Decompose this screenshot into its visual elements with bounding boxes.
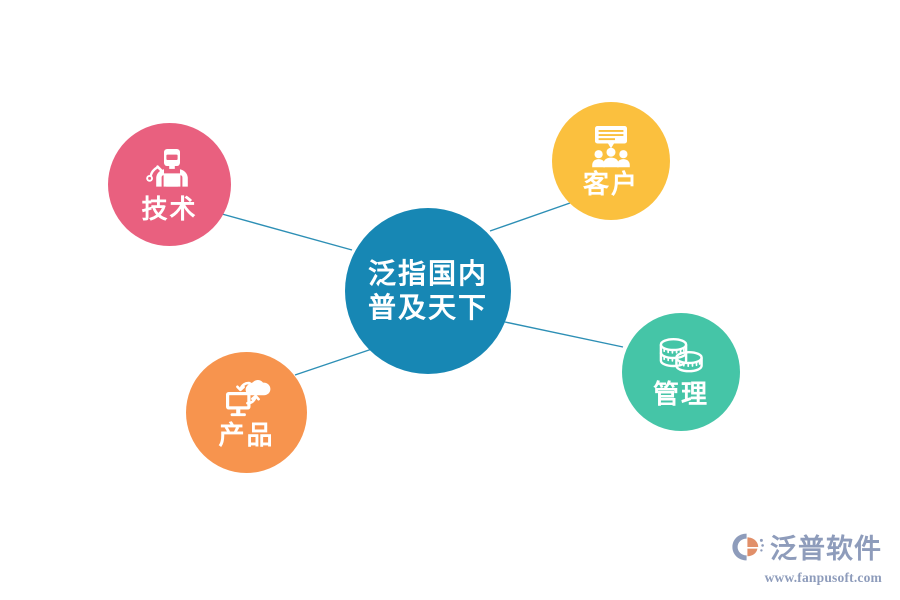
node-center-label-line1: 泛指国内	[368, 257, 488, 291]
diagram-canvas: 泛指国内 普及天下 技术	[0, 0, 900, 600]
watermark-top-row: 泛普软件	[731, 532, 882, 567]
connector-customer-to-hub	[490, 203, 570, 231]
welder-worker-icon	[144, 147, 196, 193]
connector-tech-to-hub	[222, 214, 352, 250]
speech-bubble-people-icon	[585, 125, 637, 169]
cloud-monitor-sync-icon	[220, 376, 274, 420]
node-technology-label: 技术	[141, 195, 197, 223]
node-management-label: 管理	[653, 380, 709, 408]
node-customer[interactable]: 客户	[552, 102, 670, 220]
watermark-url: www.fanpusoft.com	[765, 570, 882, 586]
watermark-brand: 泛普软件	[770, 536, 882, 563]
node-product-label: 产品	[218, 421, 274, 449]
stacked-coins-icon	[653, 336, 709, 378]
node-center-hub[interactable]: 泛指国内 普及天下	[345, 208, 511, 374]
watermark: 泛普软件 www.fanpusoft.com	[731, 532, 882, 586]
node-technology[interactable]: 技术	[108, 123, 231, 246]
node-center-label-line2: 普及天下	[368, 291, 488, 325]
connector-product-to-hub	[295, 349, 372, 375]
node-management[interactable]: 管理	[622, 313, 740, 431]
connector-management-to-hub	[505, 322, 623, 347]
node-center-label: 泛指国内 普及天下	[368, 257, 488, 325]
node-product[interactable]: 产品	[186, 352, 307, 473]
node-customer-label: 客户	[583, 170, 639, 198]
fanpu-swoosh-logo-icon	[731, 532, 765, 567]
